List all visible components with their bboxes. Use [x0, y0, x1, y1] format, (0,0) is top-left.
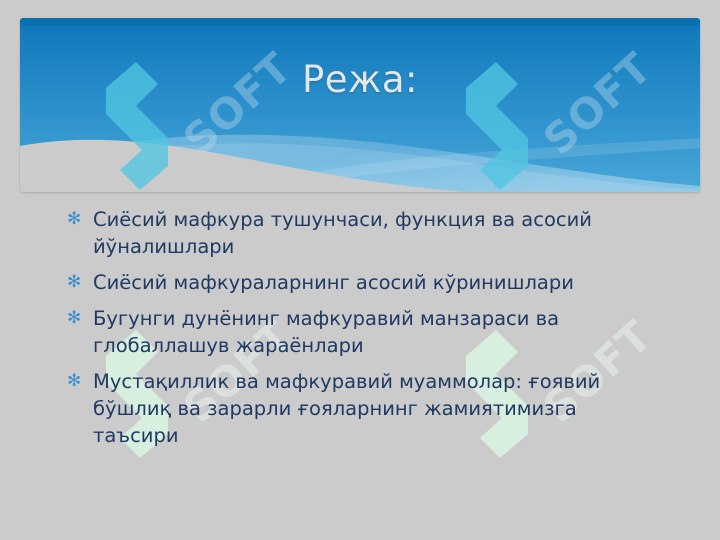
list-item-label: Бугунги дунёнинг мафкуравий манзараси ва…	[93, 305, 662, 359]
asterisk-bullet-icon: ✻	[62, 305, 93, 332]
slide-canvas: SOFT SOFT SOFT SOFT SOFT SOFT	[0, 0, 720, 540]
list-item-label: Сиёсий мафкура тушунчаси, функция ва асо…	[93, 206, 662, 260]
bullet-list: ✻ Сиёсий мафкура тушунчаси, функция ва а…	[62, 206, 662, 458]
watermark-text: SOFT	[534, 0, 661, 8]
list-item-label: Сиёсий мафкураларнинг асосий кўринишлари	[93, 269, 662, 296]
watermark-text: SOFT	[174, 0, 301, 8]
asterisk-bullet-icon: ✻	[62, 269, 93, 296]
list-item: ✻ Бугунги дунёнинг мафкуравий манзараси …	[62, 305, 662, 359]
list-item: ✻ Сиёсий мафкураларнинг асосий кўринишла…	[62, 269, 662, 296]
list-item-label: Мустақиллик ва мафкуравий муаммолар: ғоя…	[93, 368, 662, 449]
title-banner: SOFT SOFT Режа:	[20, 18, 700, 192]
slide-title: Режа:	[20, 58, 700, 101]
asterisk-bullet-icon: ✻	[62, 368, 93, 395]
list-item: ✻ Мустақиллик ва мафкуравий муаммолар: ғ…	[62, 368, 662, 449]
asterisk-bullet-icon: ✻	[62, 206, 93, 233]
list-item: ✻ Сиёсий мафкура тушунчаси, функция ва а…	[62, 206, 662, 260]
